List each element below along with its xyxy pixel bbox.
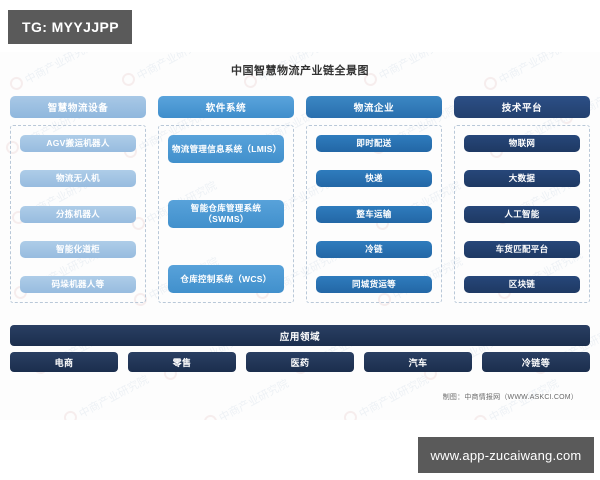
node-item[interactable]: 冷链 <box>316 241 432 258</box>
screenshot-root: TG: MYYJJPP 中商产业研究院中商产业研究院中商产业研究院中商产业研究院… <box>0 0 600 480</box>
tg-watermark-label: TG: MYYJJPP <box>22 19 119 35</box>
chart-title: 中国智慧物流产业链全景图 <box>0 62 600 78</box>
node-item[interactable]: 大数据 <box>464 170 580 187</box>
application-item[interactable]: 汽车 <box>364 352 472 372</box>
application-item[interactable]: 电商 <box>10 352 118 372</box>
node-item[interactable]: 车货匹配平台 <box>464 241 580 258</box>
node-item[interactable]: 智能化道柜 <box>20 241 136 258</box>
chart-credit: 制图：中商情报网（WWW.ASKCI.COM） <box>443 392 578 402</box>
node-item[interactable]: 智能仓库管理系统（SWMS） <box>168 200 284 228</box>
watermark-text: 中商产业研究院 <box>342 371 432 420</box>
application-item-group: 电商零售医药汽车冷链等 <box>10 352 590 374</box>
url-watermark-label: www.app-zucaiwang.com <box>431 448 582 463</box>
url-watermark-badge: www.app-zucaiwang.com <box>418 437 594 473</box>
column-header-2[interactable]: 软件系统 <box>158 96 294 118</box>
watermark-text: 中商产业研究院 <box>202 375 292 420</box>
node-item[interactable]: 物流无人机 <box>20 170 136 187</box>
node-item[interactable]: 快递 <box>316 170 432 187</box>
node-item[interactable]: 码垛机器人等 <box>20 276 136 293</box>
column-4: 技术平台物联网大数据人工智能车货匹配平台区块链 <box>454 96 590 306</box>
application-item[interactable]: 零售 <box>128 352 236 372</box>
node-item[interactable]: 仓库控制系统（WCS） <box>168 265 284 293</box>
node-item[interactable]: 分拣机器人 <box>20 206 136 223</box>
node-item[interactable]: AGV搬运机器人 <box>20 135 136 152</box>
node-item[interactable]: 区块链 <box>464 276 580 293</box>
watermark-text: 中商产业研究院 <box>62 371 152 420</box>
application-domain-bar: 应用领域 <box>10 325 590 346</box>
column-body-3: 即时配送快递整车运输冷链同城货运等 <box>306 125 442 303</box>
node-item[interactable]: 即时配送 <box>316 135 432 152</box>
application-item[interactable]: 冷链等 <box>482 352 590 372</box>
node-item[interactable]: 整车运输 <box>316 206 432 223</box>
application-item[interactable]: 医药 <box>246 352 354 372</box>
column-header-4[interactable]: 技术平台 <box>454 96 590 118</box>
application-domain-label: 应用领域 <box>280 329 320 343</box>
column-1: 智慧物流设备AGV搬运机器人物流无人机分拣机器人智能化道柜码垛机器人等 <box>10 96 146 306</box>
infographic-canvas: 中商产业研究院中商产业研究院中商产业研究院中商产业研究院中商产业研究院中商产业研… <box>0 52 600 420</box>
column-body-2: 物流管理信息系统（LMIS）智能仓库管理系统（SWMS）仓库控制系统（WCS） <box>158 125 294 303</box>
node-item[interactable]: 同城货运等 <box>316 276 432 293</box>
column-2: 软件系统物流管理信息系统（LMIS）智能仓库管理系统（SWMS）仓库控制系统（W… <box>158 96 294 306</box>
column-group: 智慧物流设备AGV搬运机器人物流无人机分拣机器人智能化道柜码垛机器人等软件系统物… <box>10 96 590 306</box>
node-item[interactable]: 物联网 <box>464 135 580 152</box>
column-header-3[interactable]: 物流企业 <box>306 96 442 118</box>
column-body-1: AGV搬运机器人物流无人机分拣机器人智能化道柜码垛机器人等 <box>10 125 146 303</box>
node-item[interactable]: 物流管理信息系统（LMIS） <box>168 135 284 163</box>
node-item[interactable]: 人工智能 <box>464 206 580 223</box>
column-header-1[interactable]: 智慧物流设备 <box>10 96 146 118</box>
column-body-4: 物联网大数据人工智能车货匹配平台区块链 <box>454 125 590 303</box>
column-3: 物流企业即时配送快递整车运输冷链同城货运等 <box>306 96 442 306</box>
tg-watermark-badge: TG: MYYJJPP <box>8 10 132 44</box>
